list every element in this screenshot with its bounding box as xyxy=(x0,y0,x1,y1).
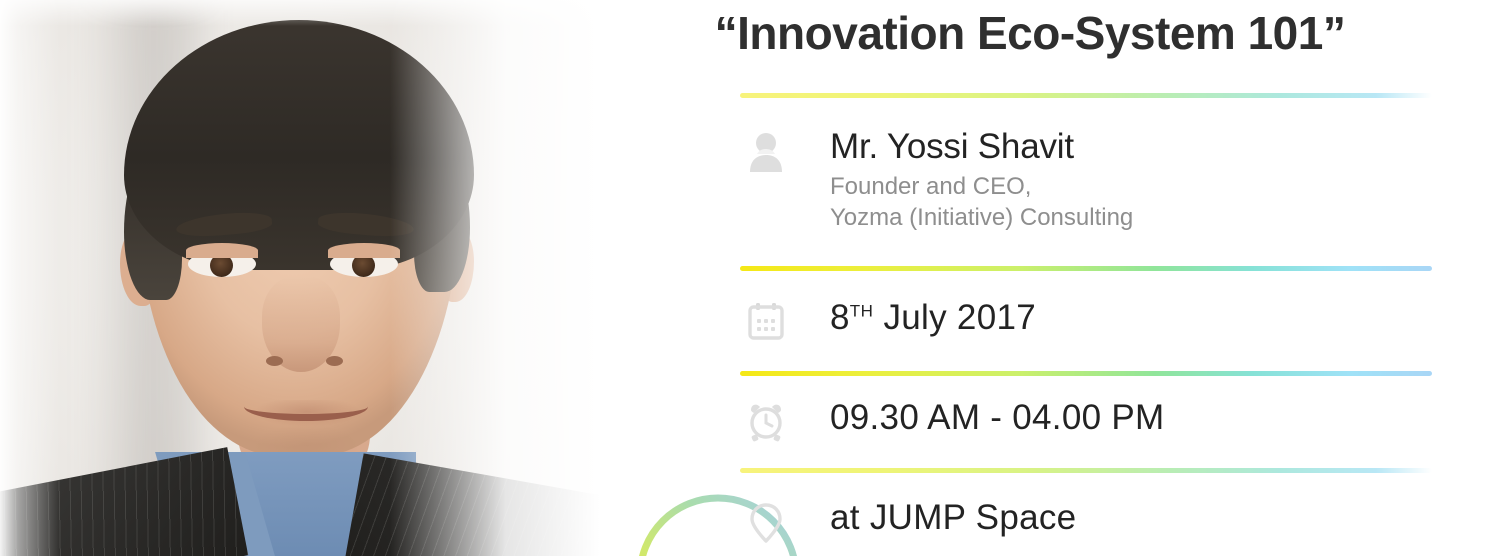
speaker-portrait-image xyxy=(0,0,600,556)
speaker-name: Mr. Yossi Shavit xyxy=(830,128,1133,167)
time-row: 09.30 AM - 04.00 PM xyxy=(740,398,1165,442)
speaker-role-line-1: Founder and CEO, xyxy=(830,171,1133,203)
divider-4 xyxy=(740,468,1432,473)
calendar-icon xyxy=(740,298,792,340)
location-row: at JUMP Space xyxy=(740,498,1076,544)
map-pin-icon xyxy=(740,498,792,544)
date-day: 8 xyxy=(830,298,850,337)
event-banner: “Innovation Eco-System 101” Mr. Yossi Sh… xyxy=(0,0,1500,556)
speaker-role-line-2: Yozma (Initiative) Consulting xyxy=(830,202,1133,234)
date-text: 8TH July 2017 xyxy=(792,298,1036,337)
speaker-row: Mr. Yossi Shavit Founder and CEO, Yozma … xyxy=(740,128,1133,234)
date-row: 8TH July 2017 xyxy=(740,298,1036,340)
nostril-right xyxy=(326,356,343,366)
event-location: at JUMP Space xyxy=(830,498,1076,537)
location-text: at JUMP Space xyxy=(792,498,1076,537)
divider-2 xyxy=(740,266,1432,271)
date-month-year: July 2017 xyxy=(883,298,1036,337)
date-ordinal: TH xyxy=(850,301,874,320)
event-date: 8TH July 2017 xyxy=(830,298,1036,337)
time-text: 09.30 AM - 04.00 PM xyxy=(792,398,1165,437)
event-time: 09.30 AM - 04.00 PM xyxy=(830,398,1165,437)
speaker-text: Mr. Yossi Shavit Founder and CEO, Yozma … xyxy=(792,128,1133,234)
photo-fade-left xyxy=(0,0,60,556)
alarm-clock-icon xyxy=(740,398,792,442)
divider-3 xyxy=(740,371,1432,376)
eyelid-left xyxy=(186,243,258,258)
person-icon xyxy=(740,128,792,172)
divider-1 xyxy=(740,93,1432,98)
mouth xyxy=(244,392,368,421)
speaker-photo xyxy=(0,0,600,556)
photo-fade-right xyxy=(390,0,600,556)
event-details: “Innovation Eco-System 101” Mr. Yossi Sh… xyxy=(580,0,1500,556)
event-title: “Innovation Eco-System 101” xyxy=(580,6,1480,60)
nostril-left xyxy=(266,356,283,366)
